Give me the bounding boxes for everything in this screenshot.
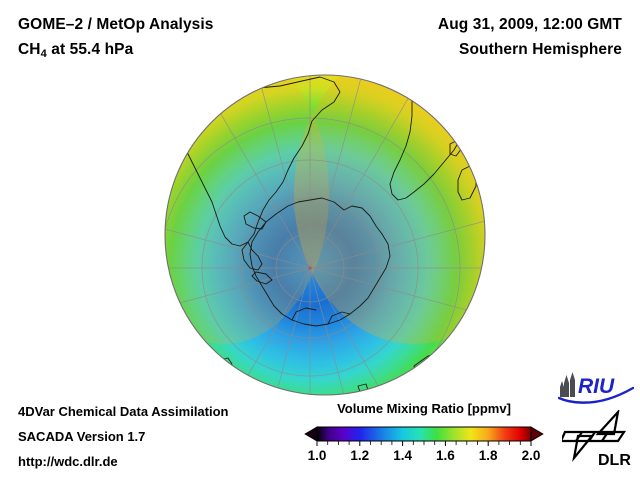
coastline-new-zealand: [476, 372, 486, 386]
colorbar-tick-label: 1.2: [350, 448, 369, 463]
footer-line-url[interactable]: http://wdc.dlr.de: [18, 454, 118, 469]
dlr-wordmark: DLR: [598, 452, 631, 468]
species-level: at 55.4 hPa: [47, 41, 134, 58]
riu-logo: RIU: [558, 371, 634, 405]
colorbar-tick-label: 1.6: [436, 448, 455, 463]
figure-canvas: GOME–2 / MetOp Analysis CH4 at 55.4 hPa …: [0, 0, 640, 480]
colorbar-ticks: [317, 441, 531, 446]
page-title: GOME–2 / MetOp Analysis: [18, 16, 214, 34]
riu-wordmark: RIU: [578, 375, 615, 398]
colorbar-tick-label: 1.4: [393, 448, 412, 463]
dlr-logo: DLR: [562, 410, 634, 468]
colorbar-extend-high: [531, 427, 543, 441]
datetime-label: Aug 31, 2009, 12:00 GMT: [438, 16, 622, 34]
species-prefix: CH: [18, 41, 41, 58]
colorbar-tick-labels: 1.0 1.2 1.4 1.6 1.8 2.0: [303, 448, 545, 468]
footer-line-version: SACADA Version 1.7: [18, 429, 145, 444]
south-pole-marker: [308, 266, 311, 269]
colorbar-extend-low: [305, 427, 317, 441]
colorbar-tick-label: 1.8: [479, 448, 498, 463]
colorbar-title: Volume Mixing Ratio [ppmv]: [303, 401, 545, 416]
species-label: CH4 at 55.4 hPa: [18, 41, 133, 60]
footer-line-method: 4DVar Chemical Data Assimilation: [18, 404, 229, 419]
region-label: Southern Hemisphere: [459, 41, 622, 59]
polar-map: [162, 74, 488, 400]
colorbar-tick-label: 1.0: [308, 448, 327, 463]
riu-towers-icon: [560, 372, 575, 397]
colorbar-gradient: [317, 427, 531, 441]
colorbar-tick-label: 2.0: [522, 448, 541, 463]
colorbar: Volume Mixing Ratio [ppmv]: [303, 401, 545, 473]
globe-svg: [162, 74, 488, 400]
colorbar-swatch: [303, 418, 545, 446]
